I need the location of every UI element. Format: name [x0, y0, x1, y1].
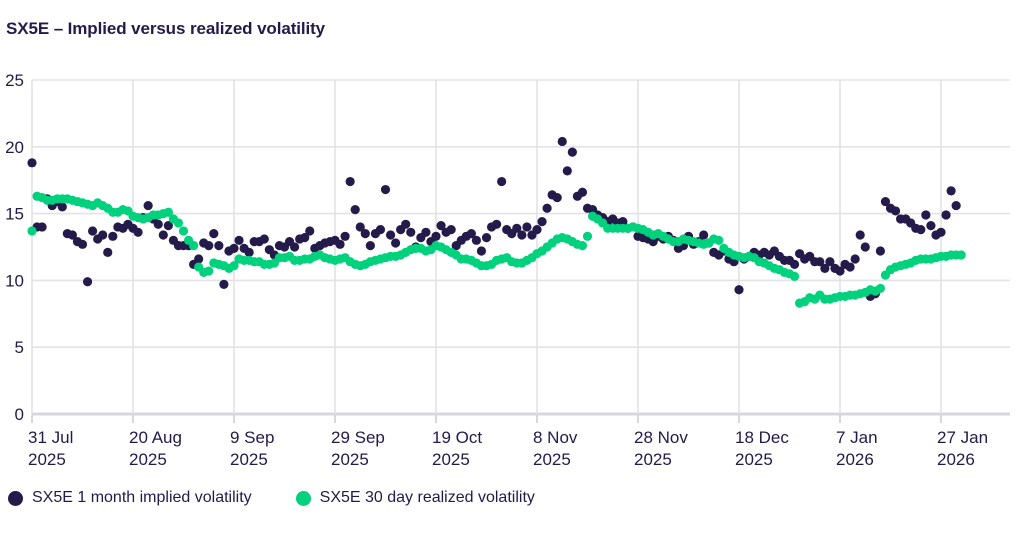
series-realized-points	[27, 192, 965, 308]
data-point	[209, 229, 218, 238]
data-point	[497, 177, 506, 186]
x-tick-label-year: 2026	[937, 450, 975, 469]
data-point	[431, 232, 440, 241]
data-point	[947, 186, 956, 195]
legend-swatch-realized	[296, 491, 311, 506]
data-point	[578, 241, 587, 250]
y-tick-label: 15	[5, 205, 24, 224]
data-point	[734, 285, 743, 294]
x-tick-label-day: 9 Sep	[230, 428, 274, 447]
x-tick-label-year: 2025	[230, 450, 268, 469]
data-point	[492, 220, 501, 229]
data-point	[88, 226, 97, 235]
data-point	[27, 158, 36, 167]
x-tick-label-day: 7 Jan	[836, 428, 878, 447]
data-point	[234, 236, 243, 245]
data-point	[351, 205, 360, 214]
chart-container: SX5E – Implied versus realized volatilit…	[0, 0, 1024, 536]
data-point	[699, 230, 708, 239]
data-point	[926, 221, 935, 230]
data-point	[952, 201, 961, 210]
data-point	[517, 230, 526, 239]
x-tick-label-day: 20 Aug	[129, 428, 182, 447]
data-point	[366, 241, 375, 250]
legend-item-implied[interactable]: SX5E 1 month implied volatility	[8, 489, 252, 507]
data-point	[941, 210, 950, 219]
data-point	[335, 240, 344, 249]
data-point	[477, 246, 486, 255]
legend-item-realized[interactable]: SX5E 30 day realized volatility	[296, 489, 535, 507]
data-point	[957, 250, 966, 259]
x-tick-label-day: 29 Sep	[331, 428, 385, 447]
data-point	[38, 222, 47, 231]
y-tick-label: 5	[15, 338, 24, 357]
data-point	[790, 260, 799, 269]
data-point	[290, 242, 299, 251]
data-point	[103, 248, 112, 257]
data-point	[204, 241, 213, 250]
data-point	[341, 232, 350, 241]
data-point	[482, 233, 491, 242]
data-point	[346, 177, 355, 186]
x-tick-label-day: 27 Jan	[937, 428, 988, 447]
data-point	[260, 234, 269, 243]
data-point	[543, 204, 552, 213]
data-point	[447, 225, 456, 234]
data-point	[401, 220, 410, 229]
data-point	[553, 193, 562, 202]
y-tick-label: 0	[15, 405, 24, 424]
x-tick-label-year: 2025	[735, 450, 773, 469]
x-axis-labels: 31 Jul202520 Aug20259 Sep202529 Sep20251…	[28, 428, 988, 469]
x-tick-label-year: 2025	[432, 450, 470, 469]
chart-legend: SX5E 1 month implied volatility SX5E 30 …	[8, 489, 535, 507]
data-point	[108, 232, 117, 241]
data-point	[936, 228, 945, 237]
data-point	[361, 229, 370, 238]
data-point	[537, 217, 546, 226]
data-point	[174, 218, 183, 227]
chart-plot: 0510152025 31 Jul202520 Aug20259 Sep2025…	[0, 0, 1024, 480]
data-point	[921, 210, 930, 219]
legend-label-realized: SX5E 30 day realized volatility	[320, 489, 535, 507]
y-axis-labels: 0510152025	[5, 71, 24, 424]
data-point	[714, 236, 723, 245]
x-tick-label-day: 19 Oct	[432, 428, 482, 447]
data-point	[421, 228, 430, 237]
x-tick-label-day: 31 Jul	[28, 428, 73, 447]
y-tick-label: 10	[5, 271, 24, 290]
data-point	[856, 230, 865, 239]
data-point	[876, 246, 885, 255]
data-point	[133, 228, 142, 237]
data-point	[27, 226, 36, 235]
data-point	[229, 244, 238, 253]
data-point	[583, 232, 592, 241]
series-implied-points	[27, 137, 960, 301]
data-point	[78, 240, 87, 249]
data-point	[558, 137, 567, 146]
x-tick-label-year: 2025	[129, 450, 167, 469]
legend-swatch-implied	[8, 491, 23, 506]
data-point	[891, 206, 900, 215]
data-point	[245, 248, 254, 257]
data-point	[406, 228, 415, 237]
data-point	[386, 230, 395, 239]
data-point	[472, 236, 481, 245]
x-tick-label-year: 2025	[533, 450, 571, 469]
data-point	[391, 238, 400, 247]
data-point	[83, 277, 92, 286]
x-tick-label-year: 2025	[28, 450, 66, 469]
data-point	[563, 166, 572, 175]
data-point	[532, 225, 541, 234]
x-tick-label-year: 2025	[634, 450, 672, 469]
data-point	[189, 241, 198, 250]
data-point	[376, 225, 385, 234]
data-point	[305, 226, 314, 235]
data-point	[522, 222, 531, 231]
data-point	[568, 148, 577, 157]
data-point	[916, 225, 925, 234]
data-point	[219, 280, 228, 289]
data-point	[204, 266, 213, 275]
x-tick-label-day: 18 Dec	[735, 428, 789, 447]
data-point	[790, 272, 799, 281]
data-point	[876, 284, 885, 293]
data-point	[851, 254, 860, 263]
data-point	[846, 262, 855, 271]
data-point	[214, 241, 223, 250]
x-tick-label-day: 8 Nov	[533, 428, 578, 447]
data-point	[154, 220, 163, 229]
y-tick-label: 20	[5, 138, 24, 157]
data-point	[98, 230, 107, 239]
data-point	[578, 188, 587, 197]
data-point	[144, 201, 153, 210]
y-tick-label: 25	[5, 71, 24, 90]
data-point	[194, 254, 203, 263]
data-point	[159, 230, 168, 239]
data-point	[179, 226, 188, 235]
axis-ticks	[32, 415, 941, 423]
x-tick-label-year: 2026	[836, 450, 874, 469]
data-point	[58, 202, 67, 211]
legend-label-implied: SX5E 1 month implied volatility	[32, 489, 252, 507]
x-tick-label-day: 28 Nov	[634, 428, 688, 447]
data-point	[381, 185, 390, 194]
x-tick-label-year: 2025	[331, 450, 369, 469]
data-point	[861, 242, 870, 251]
